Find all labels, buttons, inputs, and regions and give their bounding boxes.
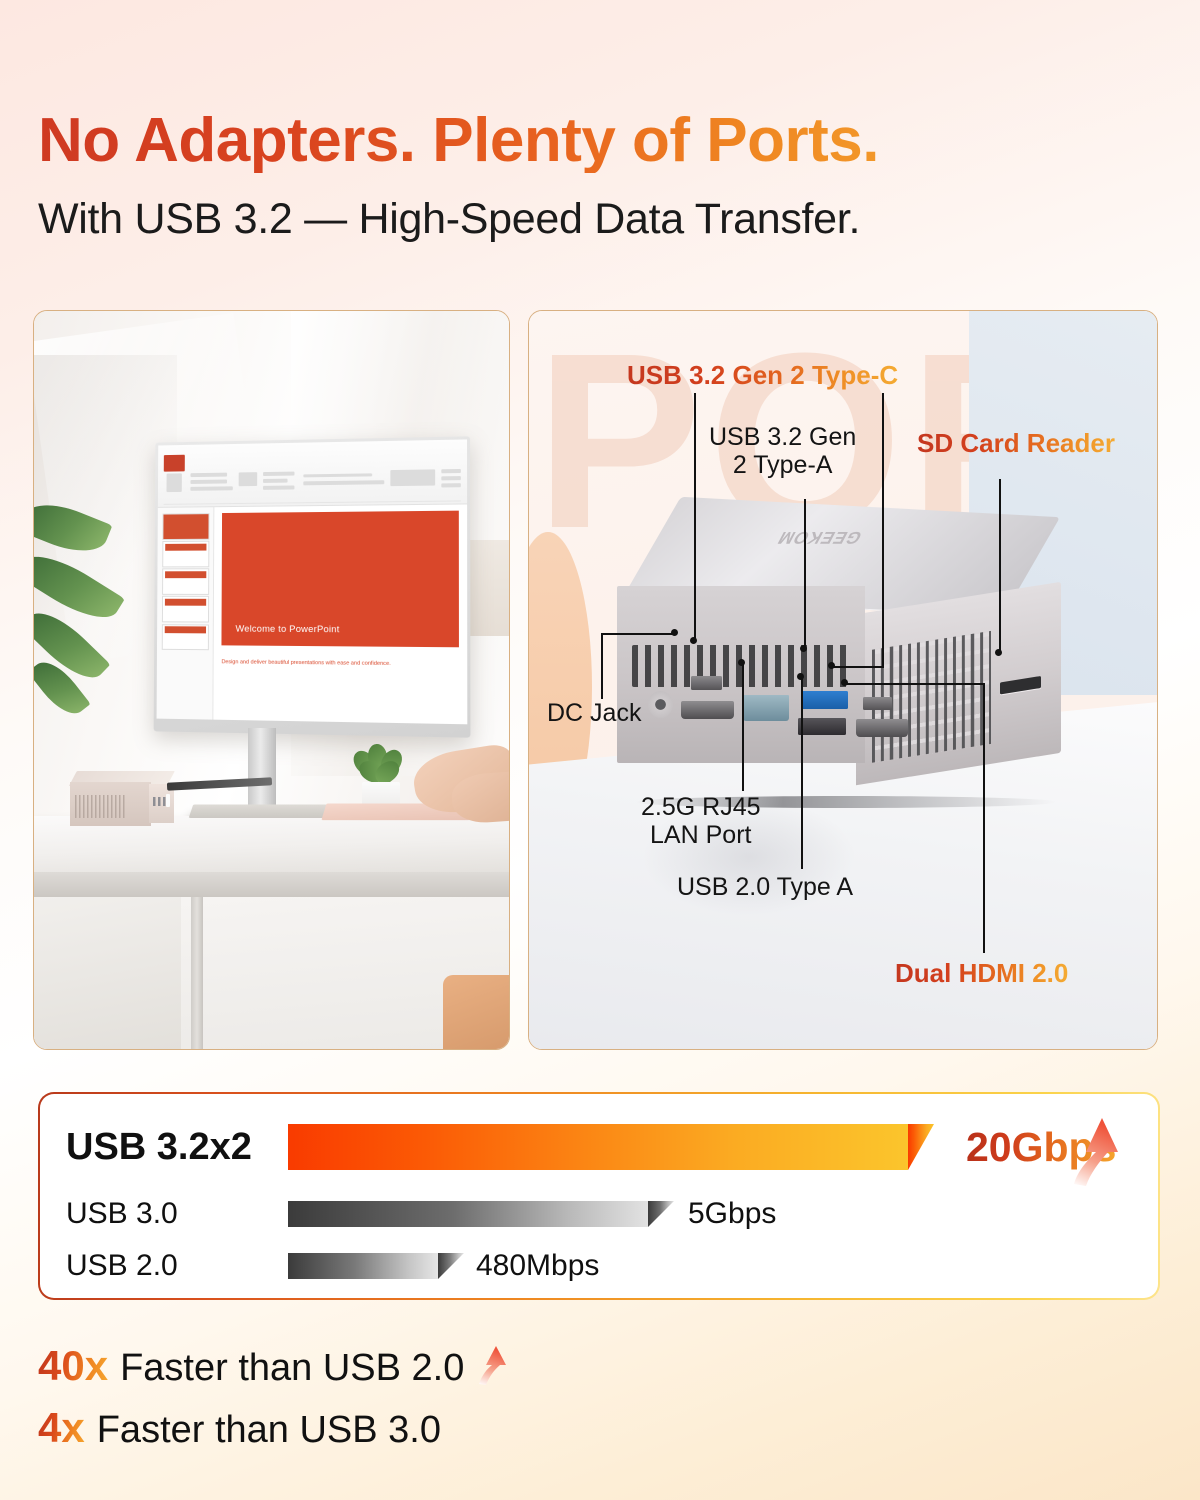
usb-c-port-1 — [691, 676, 722, 690]
claim-multiplier: 40x — [38, 1342, 108, 1390]
leader-dot — [738, 659, 745, 666]
powerpoint-body: Welcome to PowerPoint Design and deliver… — [157, 505, 468, 725]
thumb-band — [165, 572, 206, 578]
cut-icon — [191, 473, 227, 478]
shapes-gallery — [391, 470, 436, 487]
speed-row-label: USB 3.2x2 — [66, 1126, 288, 1169]
speed-up-arrow-icon — [1072, 1114, 1122, 1188]
callout-usb20-type-a: USB 2.0 Type A — [677, 873, 853, 901]
vent-grille — [75, 795, 126, 818]
leader-dot — [690, 637, 697, 644]
leader-line-sd — [999, 479, 1001, 655]
claim-4x-faster: 4x Faster than USB 3.0 — [38, 1404, 441, 1452]
powerpoint-ribbon — [158, 440, 467, 509]
speed-bar-usb30 — [288, 1201, 648, 1227]
leader-line-type-c-2-h — [832, 666, 884, 668]
page-title: No Adapters. Plenty of Ports. — [38, 108, 1158, 173]
claim-text: Faster than USB 3.0 — [97, 1409, 441, 1452]
leader-line-dc-v — [601, 633, 603, 699]
speed-row-usb20: USB 2.0 480Mbps — [66, 1246, 1066, 1286]
slide-thumbnail-pane[interactable] — [157, 508, 215, 720]
claim-40x-faster: 40x Faster than USB 2.0 — [38, 1338, 508, 1390]
slide-hero-block: Welcome to PowerPoint — [222, 511, 460, 647]
leader-line-usb-a — [804, 499, 806, 651]
speed-row-usb30: USB 3.0 5Gbps — [66, 1194, 1066, 1234]
mini-pc-front — [70, 782, 152, 826]
speed-row-label: USB 2.0 — [66, 1249, 288, 1283]
section-icon — [264, 486, 295, 491]
ribbon-file-tab — [164, 455, 185, 471]
ribbon-divider — [164, 501, 461, 505]
speed-value-usb30: 5Gbps — [688, 1197, 776, 1231]
slide-thumbnail[interactable] — [162, 542, 209, 568]
slide-thumbnail[interactable] — [162, 597, 209, 623]
monitor-bezel: Welcome to PowerPoint Design and deliver… — [154, 437, 471, 739]
format-painter-icon — [191, 487, 233, 492]
speed-comparison-card: USB 3.2x2 20Gbps USB 3.0 5Gbps USB 2.0 4… — [38, 1092, 1160, 1300]
usb-3-type-a-port — [801, 691, 849, 709]
leader-dot — [841, 679, 848, 686]
paste-icon — [167, 474, 182, 493]
slide-subtitle: Design and deliver beautiful presentatio… — [222, 658, 460, 671]
ports-background: PORT GEEKOM — [529, 311, 1157, 1049]
hdmi-port-1 — [681, 701, 733, 719]
mini-pc-rear-face — [617, 586, 865, 763]
leaf — [33, 493, 113, 563]
leader-dot — [797, 673, 804, 680]
leader-line-hdmi-h — [845, 683, 985, 685]
speed-value-usb20: 480Mbps — [476, 1249, 599, 1283]
chair — [443, 975, 511, 1049]
header-block: No Adapters. Plenty of Ports. With USB 3… — [38, 108, 1158, 244]
slide-thumbnail[interactable] — [162, 514, 209, 540]
page-subtitle: With USB 3.2 — High-Speed Data Transfer. — [38, 195, 1158, 244]
monitor: Welcome to PowerPoint Design and deliver… — [150, 439, 468, 734]
desk-edge — [34, 872, 509, 897]
callout-25g-rj45-lan-port: 2.5G RJ45 LAN Port — [641, 793, 761, 849]
speed-bar-usb32x2 — [288, 1124, 908, 1170]
leader-line-usb20 — [801, 677, 803, 869]
claim-multiplier: 4x — [38, 1404, 85, 1452]
monitor-stand-neck — [248, 728, 277, 809]
callout-dual-hdmi-20: Dual HDMI 2.0 — [895, 959, 1068, 988]
monitor-screen: Welcome to PowerPoint Design and deliver… — [157, 440, 468, 725]
callout-usb32-gen2-type-a: USB 3.2 Gen 2 Type-A — [709, 423, 856, 479]
speed-bar-usb20 — [288, 1253, 438, 1279]
dc-jack-port — [648, 691, 673, 718]
paragraph-controls — [304, 481, 385, 486]
new-slide-icon — [239, 473, 257, 487]
leader-dot — [995, 649, 1002, 656]
leader-line-type-c-2 — [882, 393, 884, 668]
speed-row-usb32x2: USB 3.2x2 20Gbps — [66, 1116, 1136, 1178]
slide-thumbnail[interactable] — [162, 624, 209, 650]
select-icon — [442, 484, 461, 489]
copy-icon — [191, 480, 227, 485]
mousepad — [188, 804, 331, 818]
leader-dot — [671, 629, 678, 636]
slide-title: Welcome to PowerPoint — [236, 624, 340, 636]
thumb-band — [165, 544, 206, 550]
brand-logo: GEEKOM — [774, 527, 866, 547]
callout-dc-jack: DC Jack — [547, 699, 641, 727]
usb-c-port-2 — [863, 697, 893, 710]
claim-text: Faster than USB 2.0 — [120, 1347, 464, 1390]
leader-dot — [828, 662, 835, 669]
hdmi-port-2 — [856, 719, 908, 737]
thumb-band — [165, 627, 207, 633]
leader-line-lan — [742, 663, 744, 791]
leader-dot — [800, 645, 807, 652]
desk-leg — [191, 897, 203, 1049]
layout-icon — [264, 472, 295, 477]
mini-pc-on-desk — [70, 771, 175, 827]
claim-up-arrow-icon — [478, 1344, 508, 1386]
thumb-band — [165, 600, 206, 606]
desk-setup-photo-panel: Welcome to PowerPoint Design and deliver… — [33, 310, 510, 1050]
rj45-lan-port — [743, 695, 788, 720]
power-button-icon — [166, 794, 170, 806]
slide-canvas[interactable]: Welcome to PowerPoint Design and deliver… — [214, 505, 468, 725]
find-icon — [442, 469, 461, 474]
ports-diagram-panel: PORT GEEKOM — [528, 310, 1158, 1050]
speed-row-label: USB 3.0 — [66, 1197, 288, 1231]
leader-line-usb-c — [694, 393, 696, 643]
leader-line-hdmi-v — [983, 683, 985, 953]
callout-usb32-gen2-type-c: USB 3.2 Gen 2 Type-C — [627, 361, 898, 390]
leader-line-dc-h — [601, 633, 675, 635]
replace-icon — [442, 476, 461, 481]
callout-sd-card-reader: SD Card Reader — [917, 429, 1115, 458]
slide-thumbnail[interactable] — [162, 569, 209, 595]
sd-card-slot — [999, 676, 1040, 694]
reset-icon — [264, 479, 289, 484]
cabinet — [34, 897, 181, 1049]
usb-2-type-a-port — [798, 718, 846, 736]
room-background: Welcome to PowerPoint Design and deliver… — [34, 311, 509, 1049]
mini-pc-product: GEEKOM — [617, 507, 1094, 802]
font-controls — [304, 473, 373, 478]
plant-leaves — [33, 503, 148, 754]
